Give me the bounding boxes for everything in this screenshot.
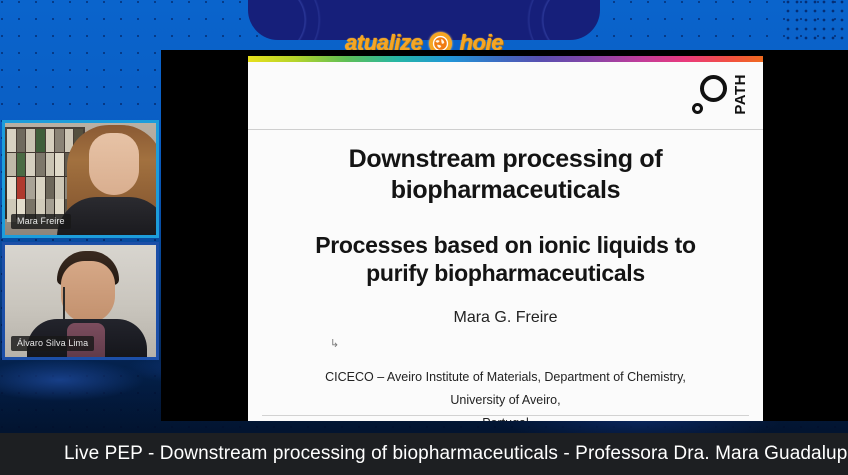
- slide-author: Mara G. Freire: [282, 309, 729, 327]
- affiliation-line-2: University of Aveiro,: [282, 389, 729, 412]
- participant-face: [61, 261, 115, 323]
- video-title-text: Live PEP - Downstream processing of biop…: [0, 443, 848, 465]
- slide-subtitle-line-1: Processes based on ionic liquids to: [282, 231, 729, 259]
- path-wordmark: PATH: [732, 74, 749, 115]
- participant-tile-alvaro-silva-lima[interactable]: Álvaro Silva Lima: [2, 242, 159, 360]
- slide-body: Downstream processing of biopharmaceutic…: [248, 130, 763, 421]
- affiliation-line-3: Portugal: [282, 412, 729, 421]
- affiliation-line-1: CICECO – Aveiro Institute of Materials, …: [282, 366, 729, 389]
- slide-footer-rule: [262, 415, 749, 416]
- slide-subtitle: Processes based on ionic liquids to puri…: [282, 231, 729, 287]
- slide-title: Downstream processing of biopharmaceutic…: [282, 144, 729, 205]
- slide-title-line-2: biopharmaceuticals: [282, 175, 729, 206]
- path-logo: PATH: [691, 72, 749, 116]
- presentation-slide[interactable]: PATH Downstream processing of biopharmac…: [248, 56, 763, 421]
- shared-screen-stage[interactable]: PATH Downstream processing of biopharmac…: [161, 50, 848, 421]
- slide-subtitle-line-2: purify biopharmaceuticals: [282, 259, 729, 287]
- slide-title-line-1: Downstream processing of: [282, 144, 729, 175]
- participant-name-label: Álvaro Silva Lima: [11, 336, 94, 351]
- path-circle-mark-icon: [691, 72, 727, 116]
- slide-header: PATH: [248, 62, 763, 130]
- mouse-cursor-mark: ↳: [330, 337, 729, 350]
- participant-name-label: Mara Freire: [11, 214, 71, 229]
- participant-face: [89, 133, 139, 195]
- video-title-bar: Live PEP - Downstream processing of biop…: [0, 433, 848, 475]
- path-ring-icon: [700, 75, 727, 102]
- participant-tile-mara-freire[interactable]: Mara Freire: [2, 120, 159, 238]
- slide-affiliation: CICECO – Aveiro Institute of Materials, …: [282, 366, 729, 421]
- path-dot-icon: [692, 103, 703, 114]
